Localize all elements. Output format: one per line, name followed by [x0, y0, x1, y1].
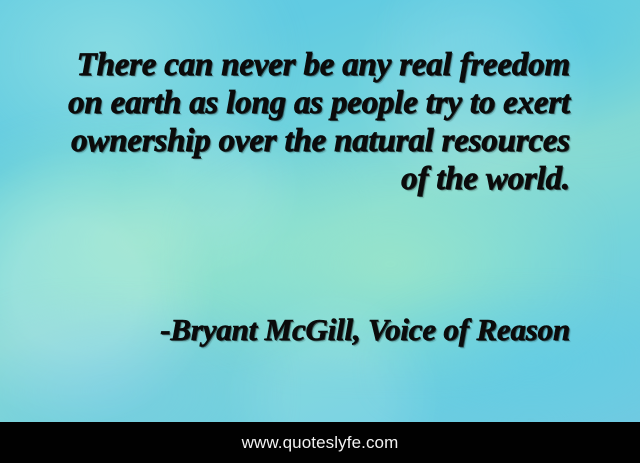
quote-card: There can never be any real freedom on e…	[0, 0, 640, 463]
quote-attribution: -Bryant McGill, Voice of Reason	[60, 308, 570, 351]
quote-text: There can never be any real freedom on e…	[44, 46, 570, 198]
website-url[interactable]: www.quoteslyfe.com	[242, 433, 399, 453]
quote-content: There can never be any real freedom on e…	[0, 0, 640, 463]
footer-bar: www.quoteslyfe.com	[0, 422, 640, 463]
